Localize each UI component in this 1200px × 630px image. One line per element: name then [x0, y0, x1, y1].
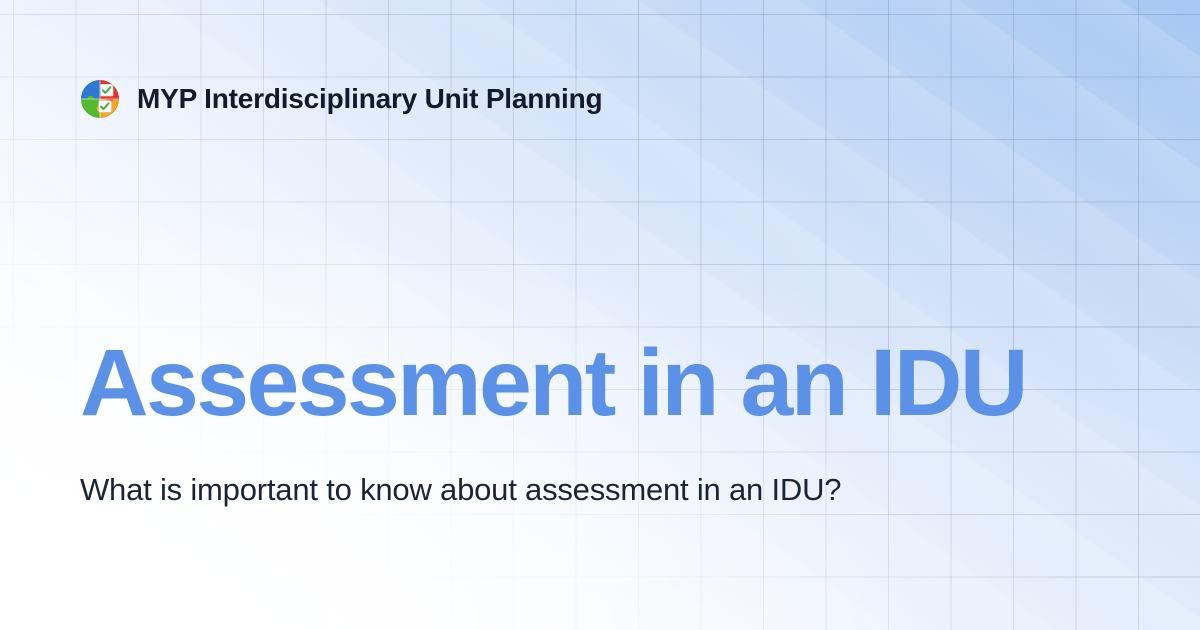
slide-content: MYP Interdisciplinary Unit Planning Asse… [0, 0, 1200, 630]
brand-title: MYP Interdisciplinary Unit Planning [137, 85, 602, 113]
brand-header: MYP Interdisciplinary Unit Planning [80, 79, 602, 119]
page-title: Assessment in an IDU [80, 336, 1026, 431]
puzzle-checklist-icon [80, 79, 120, 119]
page-subtitle: What is important to know about assessme… [80, 468, 900, 512]
